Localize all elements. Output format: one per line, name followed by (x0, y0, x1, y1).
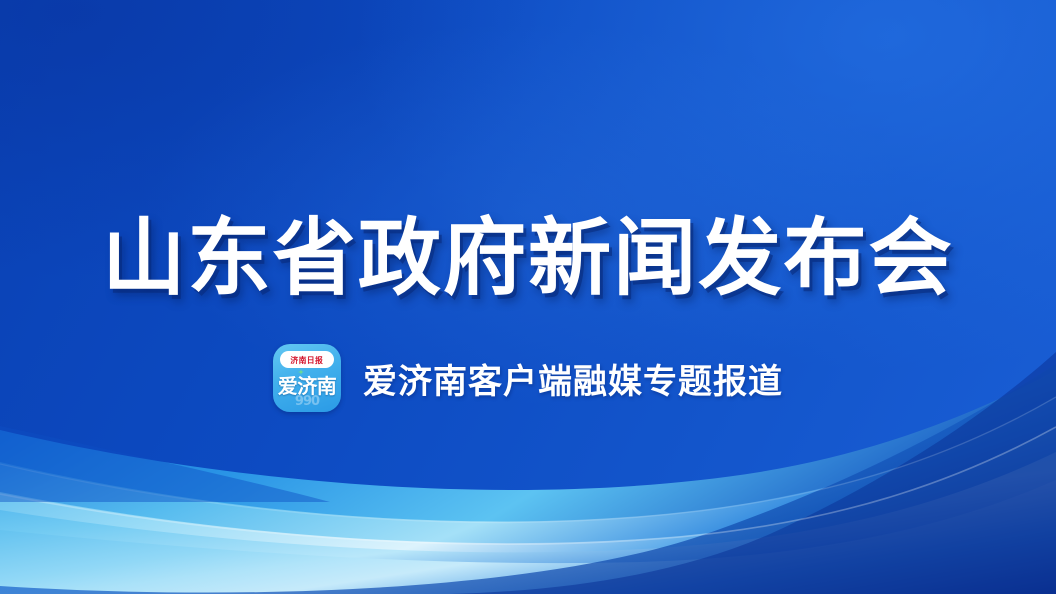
logo-ribbon-text: 济南日报 (291, 354, 324, 365)
poster-content: 山东省政府新闻发布会 济南日报 爱济南 990 爱济南客户端融媒专题报道 (0, 0, 1056, 594)
logo-watermark-text: 990 (273, 394, 341, 409)
aijinan-app-logo: 济南日报 爱济南 990 (273, 344, 341, 412)
news-conference-poster: 山东省政府新闻发布会 济南日报 爱济南 990 爱济南客户端融媒专题报道 (0, 0, 1056, 594)
page-title: 山东省政府新闻发布会 (5, 214, 1050, 303)
subtitle: 爱济南客户端融媒专题报道 (363, 354, 783, 403)
branding-row: 济南日报 爱济南 990 爱济南客户端融媒专题报道 (0, 344, 1056, 412)
logo-ribbon: 济南日报 (280, 351, 334, 368)
